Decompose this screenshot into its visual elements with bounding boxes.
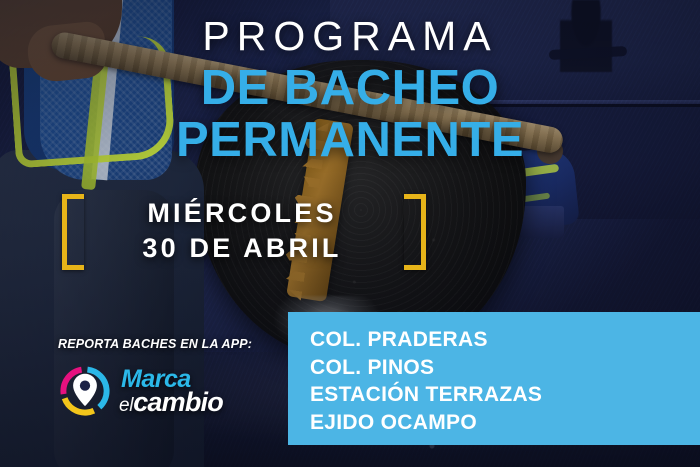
headline-line-2: PERMANENTE (0, 116, 700, 164)
list-item: EJIDO OCAMPO (310, 409, 700, 437)
logo-word-el: el (119, 395, 133, 416)
list-item: COL. PINOS (310, 354, 700, 382)
poster-content: PROGRAMA DE BACHEO PERMANENTE MIÉRCOLES … (0, 0, 700, 467)
headline-line-1: DE BACHEO (201, 61, 500, 115)
locations-list: COL. PRADERAS COL. PINOS ESTACIÓN TERRAZ… (288, 312, 700, 437)
poster-root: PROGRAMA DE BACHEO PERMANENTE MIÉRCOLES … (0, 0, 700, 467)
logo-word-el-cambio: elcambio (119, 389, 223, 416)
bracket-close-icon (404, 194, 426, 270)
list-item: ESTACIÓN TERRAZAS (310, 381, 700, 409)
logo-wordmark: Marca elcambio (119, 367, 223, 416)
event-date: MIÉRCOLES 30 DE ABRIL (86, 196, 398, 265)
location-pin-ring-icon (58, 364, 112, 418)
event-date-day-month: 30 DE ABRIL (86, 231, 398, 266)
list-item: COL. PRADERAS (310, 326, 700, 354)
locations-panel: COL. PRADERAS COL. PINOS ESTACIÓN TERRAZ… (288, 312, 700, 445)
kicker-title: PROGRAMA (0, 16, 700, 57)
bracket-open-icon (62, 194, 84, 270)
marca-el-cambio-logo[interactable]: Marca elcambio (58, 364, 223, 418)
event-date-weekday: MIÉRCOLES (86, 196, 398, 231)
headline: DE BACHEO PERMANENTE (0, 64, 700, 164)
logo-word-cambio: cambio (133, 387, 223, 417)
app-cta-label: REPORTA BACHES EN LA APP: (58, 337, 252, 351)
